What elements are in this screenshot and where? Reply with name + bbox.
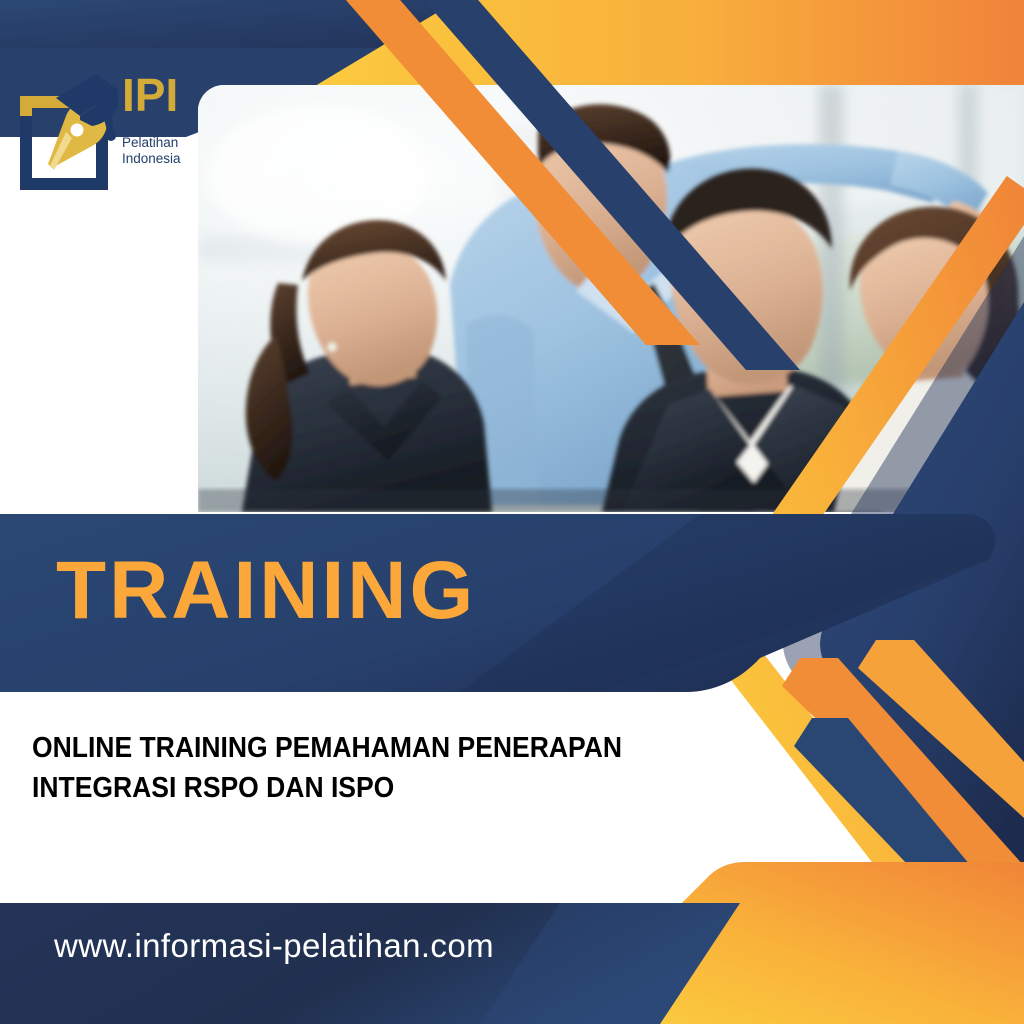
logo-subtitle: Informasi Pelatihan Indonesia <box>122 118 218 167</box>
course-title-line-1: ONLINE TRAINING PEMAHAMAN PENERAPAN <box>32 728 702 768</box>
logo-acronym: IPI <box>122 74 218 116</box>
course-title-line-2: INTEGRASI RSPO DAN ISPO <box>32 768 702 808</box>
top-right-gold-block <box>310 0 1024 89</box>
logo[interactable]: IPI Informasi Pelatihan Indonesia <box>14 72 214 198</box>
graduation-cap-pen-nib-icon <box>14 72 118 192</box>
top-navy-strip <box>0 0 660 48</box>
logo-subtitle-line-1: Informasi <box>122 118 218 134</box>
lower-navy-diagonal-stripe <box>794 718 1024 986</box>
bottom-right-gold-block <box>560 862 1024 1024</box>
logo-subtitle-line-2: Pelatihan <box>122 135 218 151</box>
website-url[interactable]: www.informasi-pelatihan.com <box>54 927 494 965</box>
course-title: ONLINE TRAINING PEMAHAMAN PENERAPAN INTE… <box>32 728 702 809</box>
hero-photo <box>198 85 1024 512</box>
training-banner: TRAINING <box>0 514 1024 692</box>
logo-subtitle-line-3: Indonesia <box>122 151 218 167</box>
poster-canvas: IPI Informasi Pelatihan Indonesia TRAINI… <box>0 0 1024 1024</box>
training-banner-label: TRAINING <box>56 544 476 638</box>
lower-orange-diagonal-stripe-1 <box>782 658 1024 920</box>
